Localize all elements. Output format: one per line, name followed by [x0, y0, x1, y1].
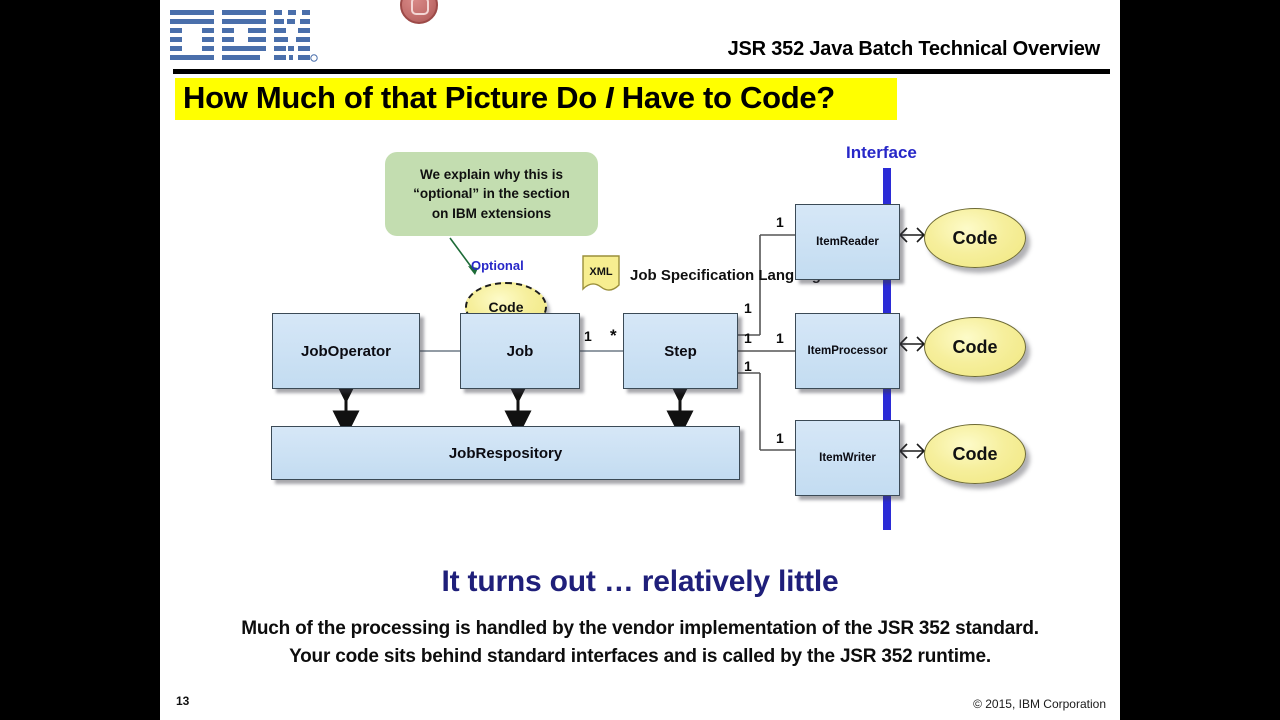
page-title: How Much of that Picture Do I Have to Co…: [183, 80, 835, 116]
uml-box-itemwriter[interactable]: ItemWriter: [795, 420, 900, 496]
page-title-part1: How Much of that Picture Do: [183, 80, 605, 115]
code-ellipse-processor[interactable]: Code: [924, 317, 1026, 377]
multiplicity-step-processor: 1: [744, 330, 752, 346]
callout-line-2: “optional” in the section: [413, 184, 570, 204]
callout-line-3: on IBM extensions: [432, 204, 551, 224]
callout-line-1: We explain why this is: [420, 165, 563, 185]
code-ellipse-writer[interactable]: Code: [924, 424, 1026, 484]
multiplicity-step-reader: 1: [744, 300, 752, 316]
page-number: 13: [176, 694, 189, 708]
uml-box-joboperator[interactable]: JobOperator: [272, 313, 420, 389]
multiplicity-reader-in: 1: [776, 214, 784, 230]
uml-box-job[interactable]: Job: [460, 313, 580, 389]
title-banner: How Much of that Picture Do I Have to Co…: [175, 78, 897, 120]
tagline: It turns out … relatively little: [160, 565, 1120, 599]
page-title-part2: Have to Code?: [613, 80, 834, 115]
slide-stage: JSR 352 Java Batch Technical Overview Ho…: [0, 0, 1280, 720]
optional-label: Optional: [471, 258, 524, 273]
code-ellipse-reader[interactable]: Code: [924, 208, 1026, 268]
uml-box-itemprocessor[interactable]: ItemProcessor: [795, 313, 900, 389]
uml-box-jobrespository[interactable]: JobRespository: [271, 426, 740, 480]
slide-canvas: JSR 352 Java Batch Technical Overview Ho…: [160, 0, 1120, 720]
multiplicity-step-writer: 1: [744, 358, 752, 374]
header-divider: [173, 69, 1110, 74]
multiplicity-job-1: 1: [584, 328, 592, 344]
multiplicity-writer-in: 1: [776, 430, 784, 446]
interface-label: Interface: [846, 143, 917, 163]
ibm-logo: [170, 8, 318, 66]
uml-box-step[interactable]: Step: [623, 313, 738, 389]
multiplicity-job-star: *: [610, 326, 617, 346]
header-title: JSR 352 Java Batch Technical Overview: [728, 38, 1100, 61]
uml-box-itemreader[interactable]: ItemReader: [795, 204, 900, 280]
architecture-diagram: We explain why this is “optional” in the…: [160, 130, 1120, 550]
copyright-notice: © 2015, IBM Corporation: [973, 697, 1106, 711]
subtext-line-2: Your code sits behind standard interface…: [160, 646, 1120, 668]
record-icon-inner: [411, 0, 429, 15]
multiplicity-processor-in: 1: [776, 330, 784, 346]
xml-note-icon: XML: [582, 255, 620, 295]
svg-text:XML: XML: [589, 266, 613, 278]
callout-note: We explain why this is “optional” in the…: [385, 152, 598, 236]
subtext-line-1: Much of the processing is handled by the…: [160, 618, 1120, 640]
